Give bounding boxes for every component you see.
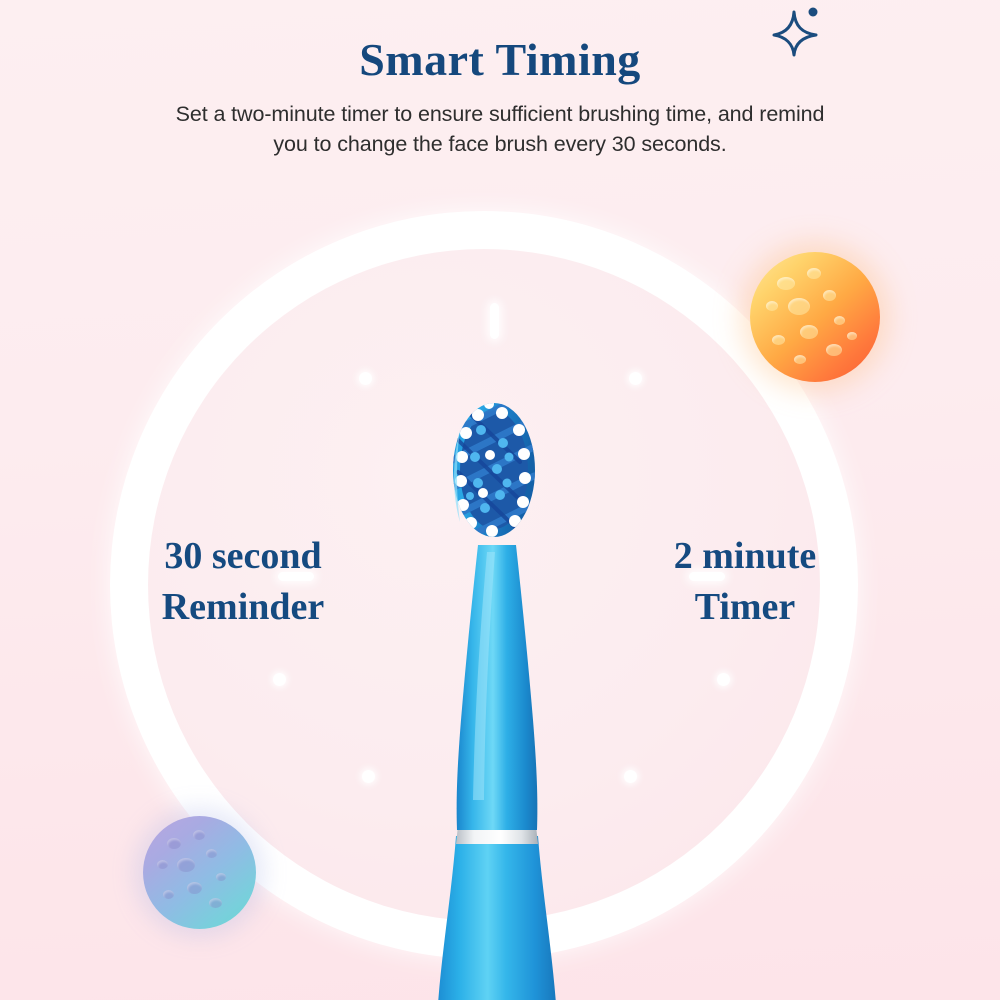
subtitle-line-2: you to change the face brush every 30 se… bbox=[50, 130, 950, 160]
clock-tick-dot-1 bbox=[629, 372, 642, 385]
label-30-second-reminder: 30 second Reminder bbox=[118, 531, 368, 632]
page-subtitle: Set a two-minute timer to ensure suffici… bbox=[50, 100, 950, 159]
clock-tick-dot-11 bbox=[359, 372, 372, 385]
clock-tick-12 bbox=[490, 303, 499, 339]
smart-timing-poster: Smart Timing Set a two-minute timer to e… bbox=[0, 0, 1000, 1000]
orange-planet bbox=[750, 252, 880, 382]
label-right-line-1: 2 minute bbox=[620, 531, 870, 582]
page-title: Smart Timing bbox=[0, 36, 1000, 84]
subtitle-line-1: Set a two-minute timer to ensure suffici… bbox=[176, 102, 825, 126]
label-left-line-1: 30 second bbox=[118, 531, 368, 582]
clock-tick-dot-8 bbox=[273, 673, 286, 686]
label-2-minute-timer: 2 minute Timer bbox=[620, 531, 870, 632]
clock-tick-dot-5 bbox=[624, 770, 637, 783]
clock-tick-dot-4 bbox=[717, 673, 730, 686]
label-left-line-2: Reminder bbox=[118, 582, 368, 633]
purple-planet bbox=[143, 816, 256, 929]
clock-tick-dot-7 bbox=[362, 770, 375, 783]
label-right-line-2: Timer bbox=[620, 582, 870, 633]
